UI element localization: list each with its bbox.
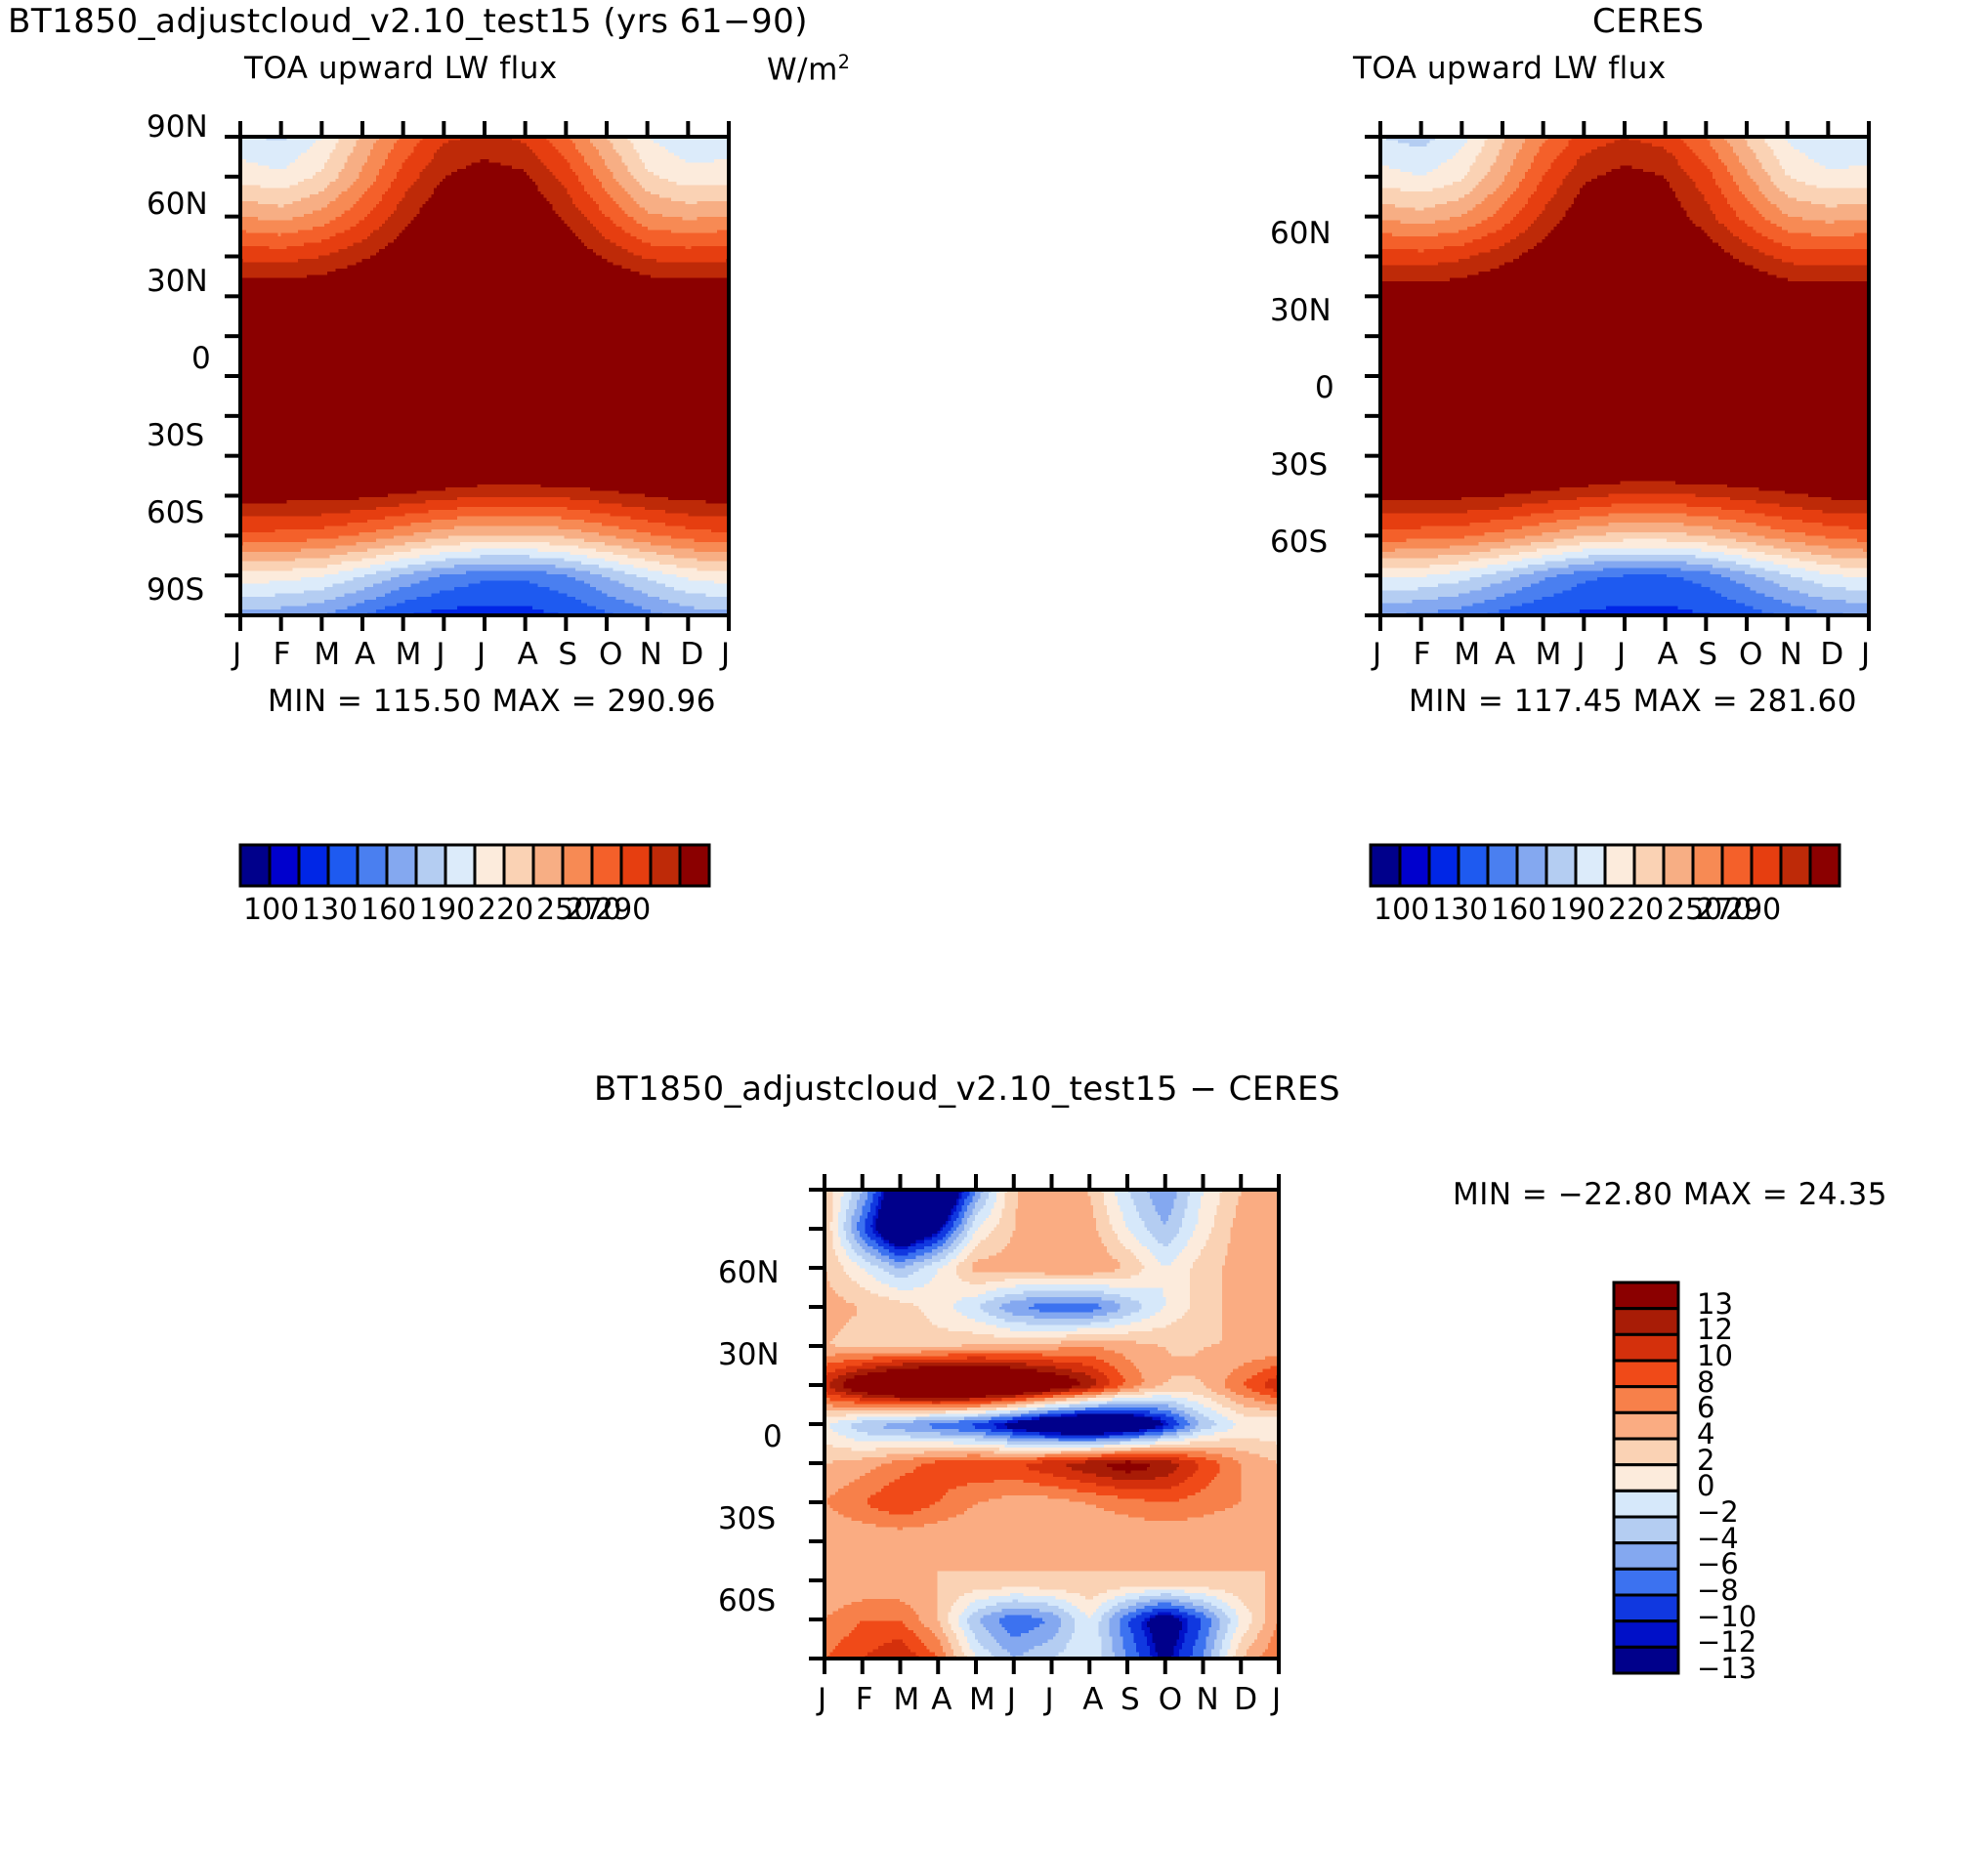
model-contour-plot [223, 119, 750, 637]
xaxis-label: N [640, 637, 662, 672]
xaxis-label: A [1082, 1682, 1103, 1717]
colorbar-tick-label: 100 [1374, 893, 1429, 927]
diff-ylabel-1: 30N [718, 1337, 780, 1372]
xaxis-label: N [1197, 1682, 1219, 1717]
diff-colorbar [1611, 1280, 1681, 1676]
xaxis-label: J [1272, 1682, 1281, 1717]
model-subtitle: TOA upward LW flux [244, 51, 558, 86]
diff-contour-plot [807, 1172, 1300, 1680]
xaxis-label: O [599, 637, 622, 672]
xaxis-label: M [1454, 637, 1480, 672]
obs-ylabel-2: 0 [1315, 370, 1334, 405]
model-ylabel-1: 60N [147, 187, 208, 222]
xaxis-label: J [1373, 637, 1381, 672]
model-units-exponent: 2 [838, 51, 851, 73]
colorbar-tick-label: −13 [1697, 1652, 1765, 1685]
xaxis-label: S [558, 637, 577, 672]
xaxis-label: M [969, 1682, 995, 1717]
colorbar-tick-label: 220 [478, 893, 533, 927]
obs-colorbar [1368, 842, 1842, 889]
xaxis-label: D [1234, 1682, 1257, 1717]
xaxis-label: J [1576, 637, 1585, 672]
xaxis-label: A [931, 1682, 952, 1717]
obs-ylabel-3: 30S [1270, 447, 1328, 483]
xaxis-label: J [1007, 1682, 1016, 1717]
model-title: BT1850_adjustcloud_v2.10_test15 (yrs 61−… [8, 2, 808, 41]
xaxis-label: A [518, 637, 538, 672]
obs-subtitle: TOA upward LW flux [1353, 51, 1667, 86]
xaxis-label: J [1861, 637, 1870, 672]
obs-ylabel-1: 30N [1270, 293, 1332, 328]
colorbar-tick-label: 190 [1549, 893, 1605, 927]
xaxis-label: J [818, 1682, 826, 1717]
diff-ylabel-0: 60N [718, 1255, 780, 1290]
xaxis-label: M [1536, 637, 1562, 672]
xaxis-label: J [233, 637, 241, 672]
obs-ylabel-0: 60N [1270, 216, 1332, 251]
xaxis-label: J [1045, 1682, 1054, 1717]
model-ylabel-6: 90S [147, 572, 204, 608]
xaxis-label: O [1159, 1682, 1182, 1717]
colorbar-tick-label: 130 [302, 893, 358, 927]
xaxis-label: D [680, 637, 703, 672]
xaxis-label: J [721, 637, 730, 672]
xaxis-label: F [1414, 637, 1431, 672]
xaxis-label: S [1121, 1682, 1140, 1717]
model-ylabel-5: 60S [147, 495, 204, 530]
diff-ylabel-3: 30S [718, 1501, 776, 1536]
xaxis-label: M [894, 1682, 920, 1717]
model-minmax: MIN = 115.50 MAX = 290.96 [268, 684, 716, 719]
colorbar-tick-label: 290 [1725, 893, 1781, 927]
colorbar-tick-label: 160 [1491, 893, 1546, 927]
xaxis-label: F [274, 637, 291, 672]
diff-ylabel-4: 60S [718, 1583, 776, 1618]
xaxis-label: J [477, 637, 486, 672]
model-ylabel-4: 30S [147, 418, 204, 453]
xaxis-label: J [436, 637, 444, 672]
model-ylabel-3: 0 [191, 341, 211, 376]
colorbar-tick-label: 160 [360, 893, 416, 927]
xaxis-label: D [1820, 637, 1843, 672]
xaxis-label: N [1780, 637, 1802, 672]
xaxis-label: M [396, 637, 422, 672]
colorbar-tick-label: 100 [243, 893, 299, 927]
colorbar-tick-label: 190 [419, 893, 475, 927]
diff-ylabel-2: 0 [763, 1419, 783, 1454]
xaxis-label: A [1658, 637, 1678, 672]
xaxis-label: O [1739, 637, 1762, 672]
model-ylabel-0: 90N [147, 109, 208, 145]
obs-contour-plot [1363, 119, 1890, 637]
diff-minmax: MIN = −22.80 MAX = 24.35 [1453, 1177, 1887, 1212]
xaxis-label: A [1495, 637, 1515, 672]
colorbar-tick-label: 220 [1608, 893, 1664, 927]
xaxis-label: A [355, 637, 375, 672]
model-units: W/m2 [767, 51, 851, 87]
diff-title: BT1850_adjustcloud_v2.10_test15 − CERES [594, 1070, 1340, 1109]
model-ylabel-2: 30N [147, 264, 208, 299]
colorbar-tick-label: 290 [595, 893, 651, 927]
obs-title: CERES [1592, 2, 1704, 41]
model-colorbar [237, 842, 712, 889]
obs-ylabel-4: 60S [1270, 525, 1328, 560]
xaxis-label: F [856, 1682, 873, 1717]
model-units-text: W/m [767, 52, 838, 87]
xaxis-label: S [1698, 637, 1717, 672]
xaxis-label: J [1617, 637, 1626, 672]
obs-minmax: MIN = 117.45 MAX = 281.60 [1409, 684, 1857, 719]
colorbar-tick-label: 130 [1432, 893, 1488, 927]
xaxis-label: M [314, 637, 340, 672]
